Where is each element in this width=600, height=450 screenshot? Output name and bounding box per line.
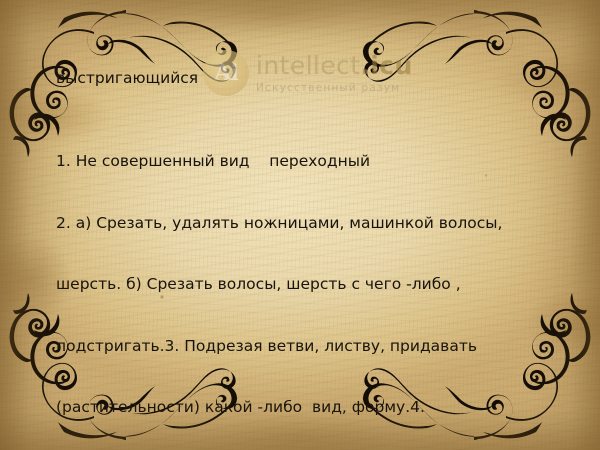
parchment-page: Ai intellect.icu Искусственный разум выс… <box>0 0 600 450</box>
paper-vignette-overlay <box>0 0 600 450</box>
